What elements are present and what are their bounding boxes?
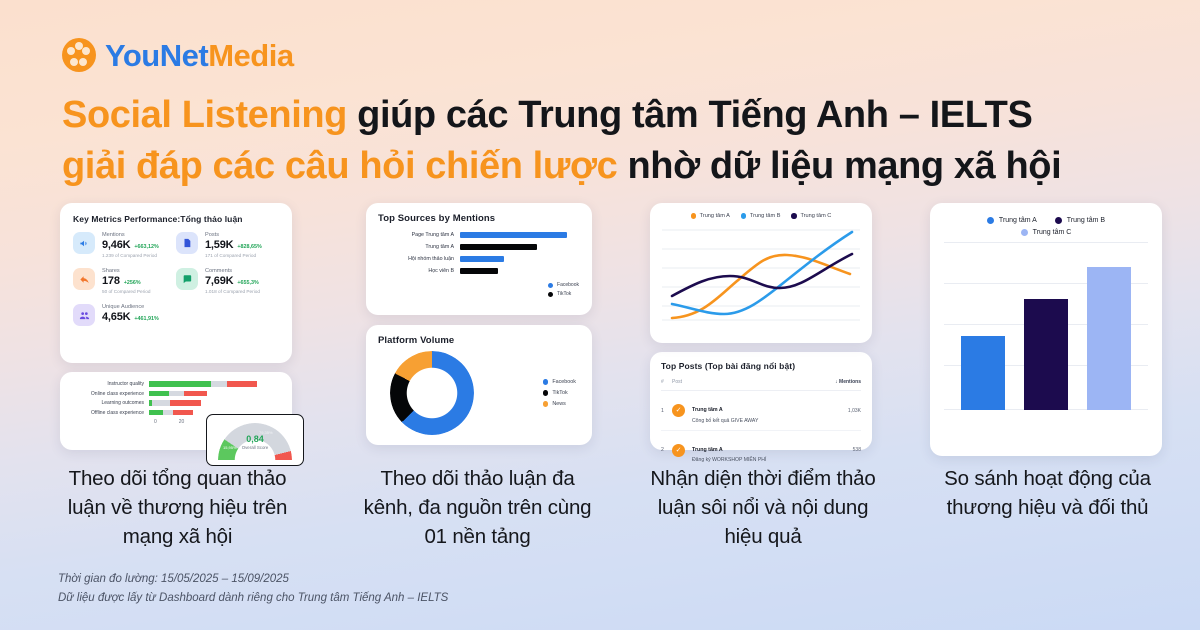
post-mentions: 538 (853, 447, 861, 453)
metric-sub: 1.018 of Compared Period (205, 289, 260, 294)
legend-item-trung-tam-a[interactable]: Trung tâm A (987, 217, 1037, 224)
bar-trung-tam-c[interactable] (1087, 267, 1131, 410)
legend-item-news[interactable]: News (543, 401, 576, 407)
page-headline: Social Listening giúp các Trung tâm Tiến… (62, 90, 1142, 191)
comment-icon (176, 268, 198, 290)
key-metrics-grid: Mentions 9,46K +663,12% 1.239 of Compare… (73, 232, 279, 336)
platform-volume-donut-chart[interactable] (390, 351, 474, 435)
sentiment-breakdown-card: Instructor quality Online class experien… (60, 372, 292, 450)
headline-rest-1: giúp các Trung tâm Tiếng Anh – IELTS (347, 94, 1032, 136)
post-description: Công bố kết quả GIVE AWAY (692, 418, 848, 424)
top-sources-card: Top Sources by Mentions Page Trung tâm A… (366, 203, 592, 315)
legend-dot-icon (548, 292, 553, 297)
legend-item-trung-tam-c[interactable]: Trung tâm C (791, 213, 831, 219)
sentiment-row[interactable]: Online class experience (71, 391, 281, 397)
metric-posts[interactable]: Posts 1,59K +828,65% 171 of Compared Per… (176, 232, 279, 258)
post-mentions: 1,03K (848, 408, 861, 414)
legend-label: TikTok (552, 390, 567, 396)
axis-tick: 0 (154, 419, 157, 425)
top-posts-header: # Post ↓ Mentions (661, 379, 861, 391)
legend-item-facebook[interactable]: Facebook (548, 282, 579, 288)
metric-label: Comments (205, 268, 260, 274)
legend-label: News (552, 401, 565, 407)
source-row[interactable]: Hội nhóm thảo luận (378, 256, 580, 262)
legend-dot-icon (548, 283, 553, 288)
card-column-2: Top Sources by Mentions Page Trung tâm A… (366, 203, 592, 445)
column-header-post: Post (672, 379, 835, 385)
source-bar (460, 268, 498, 274)
source-label: Trung tâm A (378, 244, 460, 250)
legend-label: Trung tâm B (750, 213, 781, 219)
source-label: Page Trung tâm A (378, 232, 460, 238)
column-header-index: # (661, 379, 672, 385)
bar-trung-tam-b[interactable] (1024, 299, 1068, 410)
metric-label: Unique Audience (102, 304, 159, 310)
share-arrow-icon (73, 268, 95, 290)
legend-label: Trung tâm C (1033, 229, 1072, 236)
sentiment-label: Offline class experience (71, 410, 149, 416)
headline-rest-2: nhờ dữ liệu mạng xã hội (617, 145, 1061, 187)
metric-label: Mentions (102, 232, 159, 238)
footer-source: Dữ liệu được lấy từ Dashboard dành riêng… (58, 589, 448, 608)
footer-note: Thời gian đo lường: 15/05/2025 – 15/09/2… (58, 570, 448, 608)
trend-line-chart-card: Trung tâm A Trung tâm B Trung tâm C (650, 203, 872, 343)
metric-shares[interactable]: Shares 178 +256% 50 of Compared Period (73, 268, 176, 294)
bar-chart-plot[interactable] (944, 242, 1148, 410)
platform-volume-card: Platform Volume Facebook TikTok News (366, 325, 592, 445)
source-row[interactable]: Học viên B (378, 268, 580, 274)
post-author: Trung tâm A (692, 447, 723, 453)
sentiment-row[interactable]: Learning outcomes (71, 400, 281, 406)
legend-item-tiktok[interactable]: TikTok (543, 390, 576, 396)
legend-dot-icon (987, 217, 994, 224)
row-index: 2 (661, 447, 672, 453)
line-chart-plot[interactable] (662, 226, 860, 324)
source-bar (460, 244, 537, 250)
bar-trung-tam-a[interactable] (961, 336, 1005, 410)
legend-item-trung-tam-b[interactable]: Trung tâm B (741, 213, 781, 219)
people-icon (73, 304, 95, 326)
card-column-1: Key Metrics Performance:Tổng thảo luận M… (60, 203, 292, 450)
sentiment-label: Instructor quality (71, 381, 149, 387)
metric-sub: 50 of Compared Period (102, 289, 150, 294)
metric-change: +256% (124, 280, 141, 286)
document-icon (176, 232, 198, 254)
overall-score-gauge[interactable]: 15,95% 79,35% 0,84 Overall Score (206, 414, 304, 466)
metric-change: +655,3% (237, 280, 258, 286)
legend-label: Trung tâm A (700, 213, 730, 219)
sentiment-label: Learning outcomes (71, 400, 149, 406)
legend-label: Trung tâm B (1067, 217, 1105, 224)
legend-label: TikTok (557, 291, 571, 297)
metric-mentions[interactable]: Mentions 9,46K +663,12% 1.239 of Compare… (73, 232, 176, 258)
legend-dot-icon (543, 401, 549, 407)
brand-comparison-bar-chart-card: Trung tâm A Trung tâm B Trung tâm C (930, 203, 1162, 456)
metric-sub: 1.239 of Compared Period (102, 253, 159, 258)
legend-dot-icon (741, 213, 747, 219)
headline-line-2: giải đáp các câu hỏi chiến lược nhờ dữ l… (62, 141, 1142, 192)
metric-value: 4,65K (102, 311, 130, 323)
legend-label: Trung tâm C (800, 213, 831, 219)
legend-label: Facebook (557, 282, 579, 288)
post-description: Đăng ký WORKSHOP MIỄN PHÍ (692, 457, 853, 463)
metric-unique-audience[interactable]: Unique Audience 4,65K +461,91% (73, 304, 176, 326)
younet-circle-logo-icon (62, 38, 96, 72)
source-row[interactable]: Trung tâm A (378, 244, 580, 250)
metric-comments[interactable]: Comments 7,69K +655,3% 1.018 of Compared… (176, 268, 279, 294)
legend-label: Facebook (552, 379, 576, 385)
key-metrics-title: Key Metrics Performance:Tổng thảo luận (73, 214, 279, 224)
post-author: Trung tâm A (692, 407, 723, 413)
top-posts-card: Top Posts (Top bài đăng nổi bật) # Post … (650, 352, 872, 450)
brand-name-part1: YouNet (105, 38, 208, 73)
platform-volume-legend: Facebook TikTok News (543, 379, 576, 412)
dashboard-cards: Key Metrics Performance:Tổng thảo luận M… (0, 203, 1200, 458)
caption-1: Theo dõi tổng quan thảo luận về thương h… (55, 464, 300, 551)
caption-4: So sánh hoạt động của thương hiệu và đối… (925, 464, 1170, 522)
legend-dot-icon (791, 213, 797, 219)
key-metrics-card: Key Metrics Performance:Tổng thảo luận M… (60, 203, 292, 363)
metric-value: 178 (102, 275, 120, 287)
card-column-3: Trung tâm A Trung tâm B Trung tâm C (650, 203, 872, 450)
footer-period: Thời gian đo lường: 15/05/2025 – 15/09/2… (58, 570, 448, 589)
source-bar (460, 232, 567, 238)
legend-item-tiktok[interactable]: TikTok (548, 291, 579, 297)
metric-change: +663,12% (134, 244, 158, 250)
legend-dot-icon (543, 379, 549, 385)
captions-row: Theo dõi tổng quan thảo luận về thương h… (0, 464, 1200, 554)
gauge-value: 0,84 (207, 434, 303, 444)
top-sources-title: Top Sources by Mentions (378, 213, 580, 224)
top-posts-title: Top Posts (Top bài đăng nổi bật) (661, 361, 861, 371)
metric-value: 9,46K (102, 239, 130, 251)
check-badge-icon: ✓ (672, 404, 685, 417)
legend-item-trung-tam-c[interactable]: Trung tâm C (1021, 229, 1072, 236)
bar-chart-legend-row-2: Trung tâm C (944, 229, 1148, 236)
megaphone-icon (73, 232, 95, 254)
headline-highlight-1: Social Listening (62, 94, 347, 136)
legend-item-trung-tam-a[interactable]: Trung tâm A (691, 213, 730, 219)
brand-name-part2: Media (208, 38, 293, 73)
legend-dot-icon (691, 213, 697, 219)
gauge-caption: Overall Score (207, 445, 303, 450)
brand-name: YouNetMedia (105, 40, 294, 71)
metric-value: 7,69K (205, 275, 233, 287)
caption-3: Nhận diện thời điểm thảo luận sôi nổi và… (638, 464, 888, 551)
axis-tick: 20 (179, 419, 185, 425)
sentiment-label: Online class experience (71, 391, 149, 397)
legend-dot-icon (543, 390, 549, 396)
source-label: Học viên B (378, 268, 460, 274)
source-row[interactable]: Page Trung tâm A (378, 232, 580, 238)
line-chart-legend: Trung tâm A Trung tâm B Trung tâm C (662, 213, 860, 219)
caption-2: Theo dõi thảo luận đa kênh, đa nguồn trê… (355, 464, 600, 551)
sentiment-row[interactable]: Instructor quality (71, 381, 281, 387)
legend-dot-icon (1021, 229, 1028, 236)
source-bar (460, 256, 504, 262)
column-header-mentions[interactable]: ↓ Mentions (835, 379, 861, 385)
legend-label: Trung tâm A (999, 217, 1037, 224)
metric-label: Posts (205, 232, 262, 238)
table-row[interactable]: 1 ✓ Trung tâm A Công bố kết quả GIVE AWA… (661, 391, 861, 431)
brand-logo: YouNetMedia (62, 38, 294, 72)
top-sources-legend: Facebook TikTok (548, 282, 579, 300)
bar-chart-legend-row-1: Trung tâm A Trung tâm B (944, 217, 1148, 224)
metric-value: 1,59K (205, 239, 233, 251)
metric-change: +461,91% (134, 316, 158, 322)
metric-label: Shares (102, 268, 150, 274)
headline-highlight-2: giải đáp các câu hỏi chiến lược (62, 145, 617, 187)
card-column-4: Trung tâm A Trung tâm B Trung tâm C (930, 203, 1162, 456)
check-badge-icon: ✓ (672, 444, 685, 457)
row-index: 1 (661, 408, 672, 414)
source-label: Hội nhóm thảo luận (378, 256, 460, 262)
legend-item-trung-tam-b[interactable]: Trung tâm B (1055, 217, 1105, 224)
platform-volume-title: Platform Volume (378, 335, 580, 346)
metric-change: +828,65% (237, 244, 261, 250)
legend-item-facebook[interactable]: Facebook (543, 379, 576, 385)
headline-line-1: Social Listening giúp các Trung tâm Tiến… (62, 90, 1142, 141)
metric-sub: 171 of Compared Period (205, 253, 262, 258)
legend-dot-icon (1055, 217, 1062, 224)
